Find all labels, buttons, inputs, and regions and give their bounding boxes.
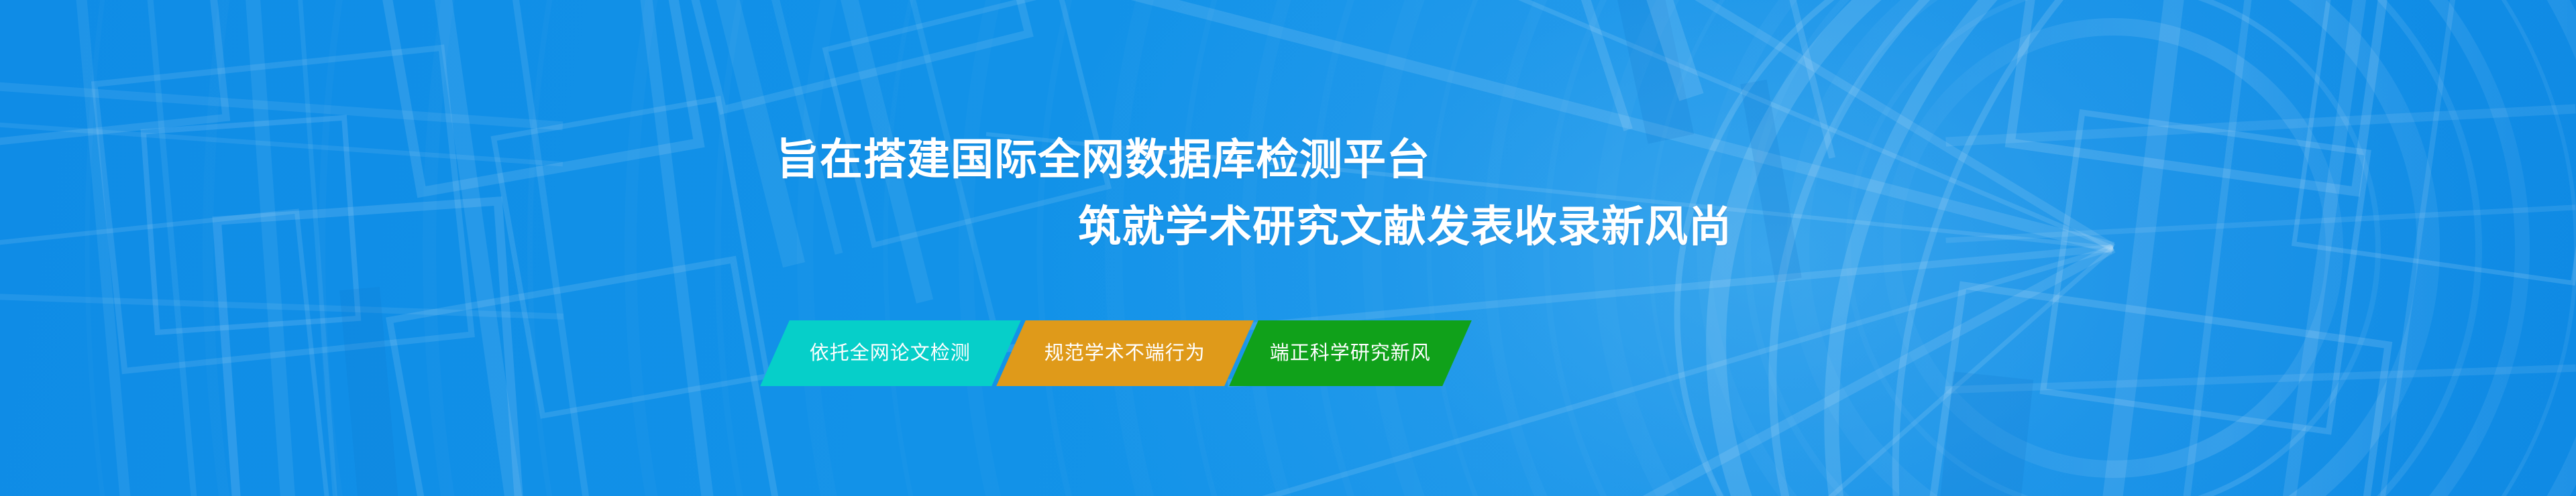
tag-research-ethos[interactable]: 端正科学研究新风 (1229, 320, 1472, 386)
tag-research-ethos-label: 端正科学研究新风 (1270, 344, 1431, 363)
headline-block: 旨在搭建国际全网数据库检测平台 筑就学术研究文献发表收录新风尚 (0, 0, 2576, 496)
tag-paper-detection[interactable]: 依托全网论文检测 (760, 320, 1021, 386)
promo-banner: 旨在搭建国际全网数据库检测平台 筑就学术研究文献发表收录新风尚 依托全网论文检测… (0, 0, 2576, 496)
headline-line-1: 旨在搭建国际全网数据库检测平台 (776, 138, 1430, 181)
tag-academic-misconduct[interactable]: 规范学术不端行为 (996, 320, 1254, 386)
feature-tag-strip: 依托全网论文检测 规范学术不端行为 端正科学研究新风 (775, 320, 1457, 386)
tag-paper-detection-label: 依托全网论文检测 (810, 344, 971, 363)
headline-line-2: 筑就学术研究文献发表收录新风尚 (1078, 205, 1732, 248)
tag-academic-misconduct-label: 规范学术不端行为 (1044, 344, 1205, 363)
